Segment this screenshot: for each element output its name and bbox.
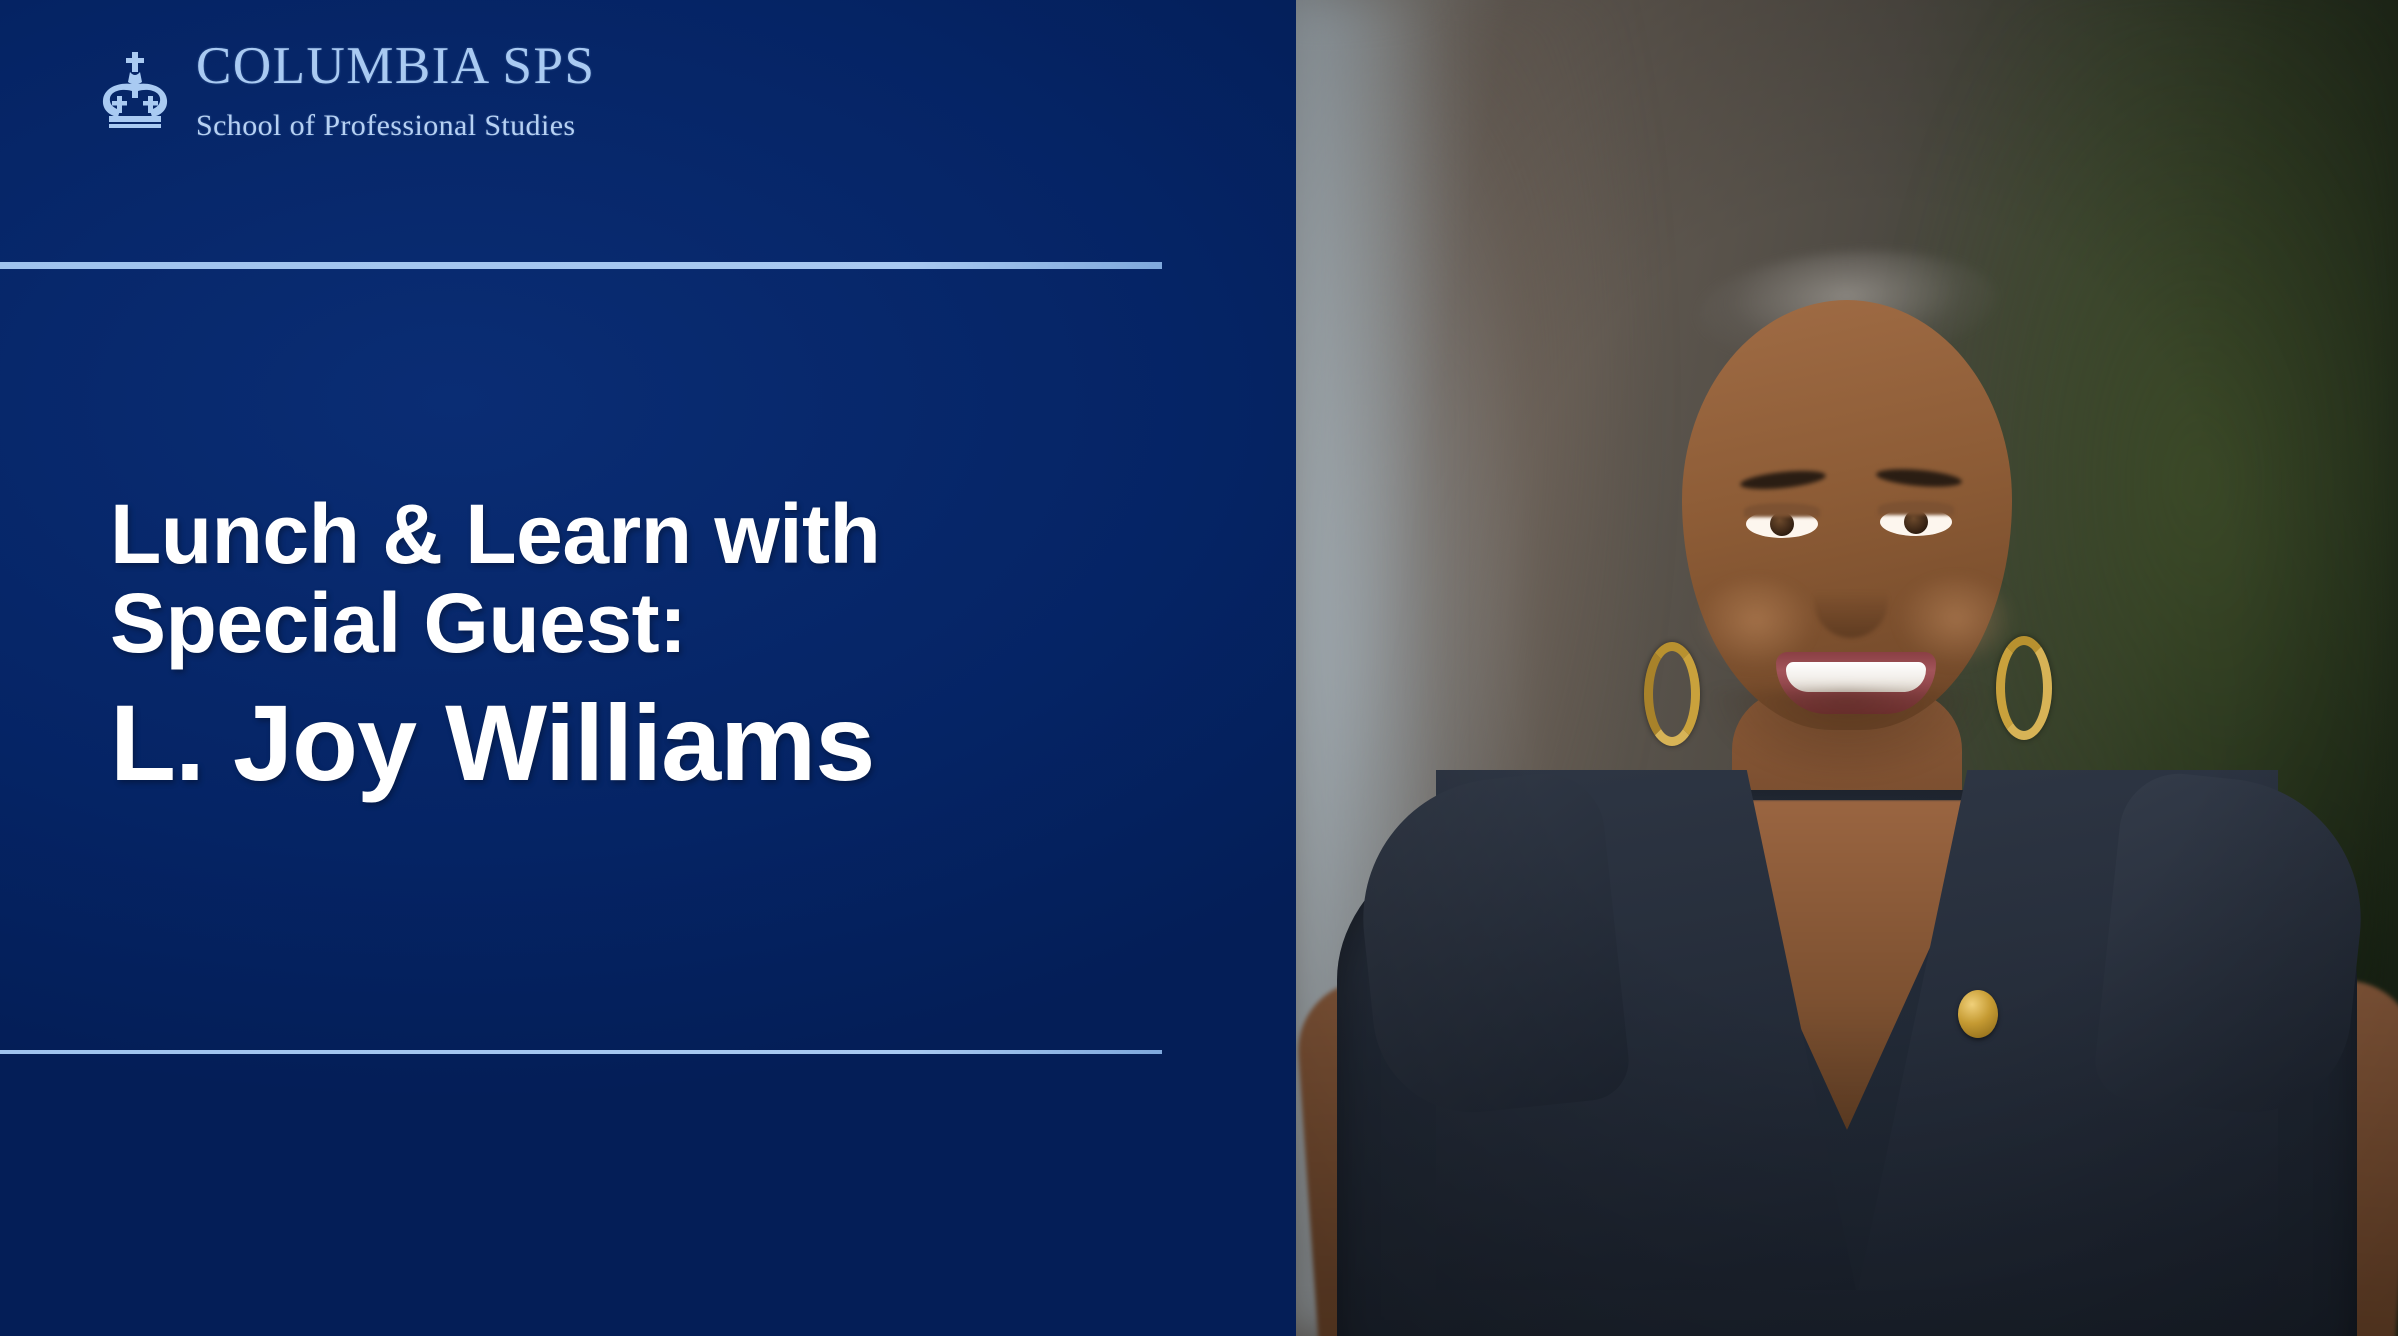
portrait-sleeve-left bbox=[1349, 768, 1632, 1122]
guest-name: L. Joy Williams bbox=[110, 684, 1230, 803]
logo-wordmark-block: COLUMBIA SPS School of Professional Stud… bbox=[196, 40, 736, 143]
portrait-nose bbox=[1814, 560, 1888, 638]
headline-line-2: Special Guest: bbox=[110, 579, 1230, 668]
logo-wordmark: COLUMBIA SPS bbox=[196, 40, 736, 93]
portrait-sleeve-right bbox=[2091, 768, 2374, 1122]
columbia-sps-logo: COLUMBIA SPS School of Professional Stud… bbox=[96, 40, 736, 190]
guest-portrait-photo bbox=[1296, 0, 2398, 1336]
gold-hoop-earring-right-icon bbox=[1996, 636, 2052, 740]
headline-block: Lunch & Learn with Special Guest: L. Joy… bbox=[110, 490, 1230, 803]
portrait-eyelid-left bbox=[1744, 503, 1820, 517]
portrait-figure bbox=[1296, 0, 2398, 1336]
gold-hoop-earring-left-icon bbox=[1644, 642, 1700, 746]
columbia-crown-icon bbox=[96, 50, 174, 130]
gold-lapel-pin-icon bbox=[1958, 990, 1998, 1038]
divider-rule-top bbox=[0, 262, 1162, 269]
divider-rule-bottom bbox=[0, 1050, 1162, 1054]
title-panel: COLUMBIA SPS School of Professional Stud… bbox=[0, 0, 1296, 1336]
portrait-teeth bbox=[1786, 662, 1926, 692]
portrait-jaw-shading bbox=[1707, 690, 1987, 780]
portrait-eyelid-right bbox=[1878, 501, 1954, 515]
presentation-slide: COLUMBIA SPS School of Professional Stud… bbox=[0, 0, 2398, 1336]
headline-line-1: Lunch & Learn with bbox=[110, 490, 1230, 579]
logo-sub-wordmark: School of Professional Studies bbox=[196, 109, 736, 143]
